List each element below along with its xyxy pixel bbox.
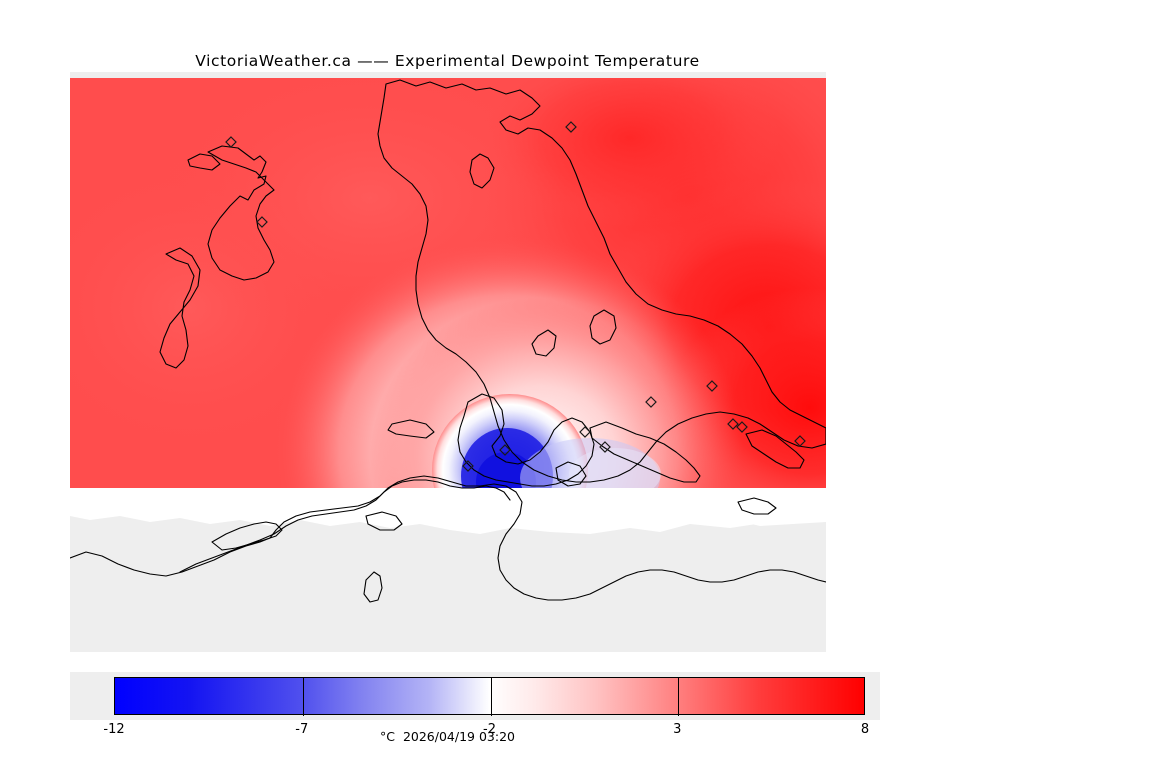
colorbar-tick--2 bbox=[491, 678, 492, 716]
colorbar-tick--7 bbox=[303, 678, 304, 716]
station-marker-station-south-shore[interactable] bbox=[580, 427, 590, 437]
station-marker-station-saanich-inlet[interactable] bbox=[500, 445, 510, 455]
station-marker-station-east-b[interactable] bbox=[728, 419, 738, 429]
station-marker-layer[interactable] bbox=[70, 72, 826, 652]
colorbar-gradient bbox=[115, 678, 864, 714]
temperature-colorbar[interactable] bbox=[114, 677, 865, 715]
colorbar-caption: °C 2026/04/19 03:20 bbox=[0, 729, 895, 744]
colorbar-label--2: -2 bbox=[483, 722, 496, 737]
colorbar-panel bbox=[70, 672, 880, 720]
colorbar-label-8: 8 bbox=[861, 722, 869, 737]
station-marker-station-saltspring-south[interactable] bbox=[257, 217, 267, 227]
station-marker-station-north-saltspring[interactable] bbox=[226, 137, 236, 147]
colorbar-label--12: -12 bbox=[103, 722, 124, 737]
station-marker-station-malahat[interactable] bbox=[463, 461, 473, 471]
colorbar-label--7: -7 bbox=[295, 722, 308, 737]
station-marker-station-gulf-islands-ne[interactable] bbox=[566, 122, 576, 132]
station-marker-station-east-a[interactable] bbox=[707, 381, 717, 391]
station-marker-station-central-east[interactable] bbox=[646, 397, 656, 407]
dewpoint-map-panel[interactable] bbox=[70, 72, 826, 652]
station-marker-station-east-c[interactable] bbox=[737, 422, 747, 432]
colorbar-tick-3 bbox=[678, 678, 679, 716]
colorbar-label-3: 3 bbox=[673, 722, 681, 737]
station-marker-station-far-east[interactable] bbox=[795, 436, 805, 446]
station-marker-station-victoria-harbour[interactable] bbox=[600, 442, 610, 452]
page-title: VictoriaWeather.ca —— Experimental Dewpo… bbox=[0, 52, 895, 70]
